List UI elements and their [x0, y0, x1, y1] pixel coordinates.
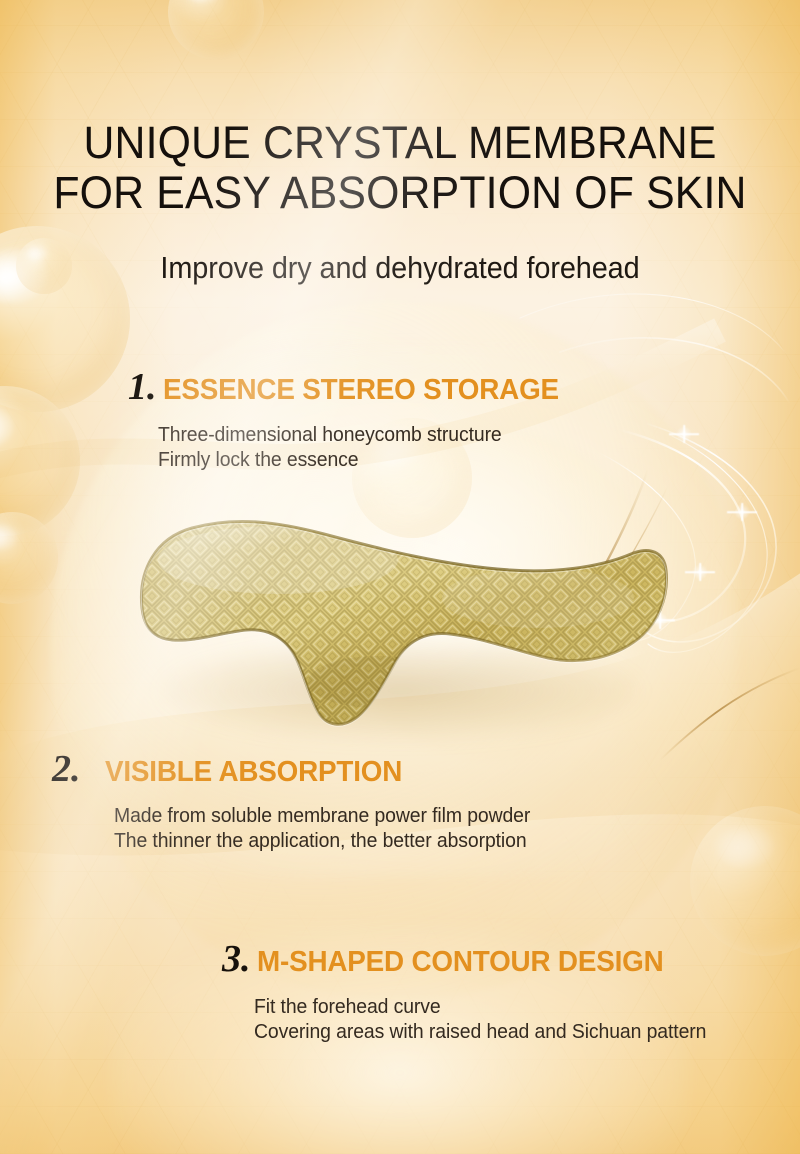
feature-1-heading: 1. ESSENCE STEREO STORAGE: [128, 368, 575, 407]
feature-2-description: Made from soluble membrane power film po…: [114, 804, 530, 854]
feature-block-3: 3. M-SHAPED CONTOUR DESIGN Fit the foreh…: [222, 940, 720, 1045]
feature-2-number: 2.: [52, 750, 81, 788]
feature-3-heading: 3. M-SHAPED CONTOUR DESIGN: [222, 940, 720, 979]
feature-1-number: 1.: [128, 368, 157, 406]
feature-block-1: 1. ESSENCE STEREO STORAGE Three-dimensio…: [128, 368, 575, 473]
feature-1-description: Three-dimensional honeycomb structure Fi…: [158, 423, 562, 473]
feature-block-2: 2. VISIBLE ABSORPTION Made from soluble …: [52, 750, 543, 854]
product-patch-svg: [128, 512, 673, 732]
page-title: UNIQUE CRYSTAL MEMBRANE FOR EASY ABSORPT…: [20, 118, 780, 219]
feature-1-title: ESSENCE STEREO STORAGE: [163, 374, 559, 407]
feature-3-description: Fit the forehead curve Covering areas wi…: [254, 995, 706, 1045]
feature-2-title: VISIBLE ABSORPTION: [105, 756, 402, 789]
feature-3-title: M-SHAPED CONTOUR DESIGN: [257, 946, 664, 979]
feature-3-number: 3.: [222, 940, 251, 978]
page-subtitle: Improve dry and dehydrated forehead: [28, 250, 772, 286]
product-feature-poster: UNIQUE CRYSTAL MEMBRANE FOR EASY ABSORPT…: [0, 0, 800, 1154]
feature-2-heading: 2. VISIBLE ABSORPTION: [52, 750, 543, 789]
product-image-mask-patch: [128, 512, 673, 732]
